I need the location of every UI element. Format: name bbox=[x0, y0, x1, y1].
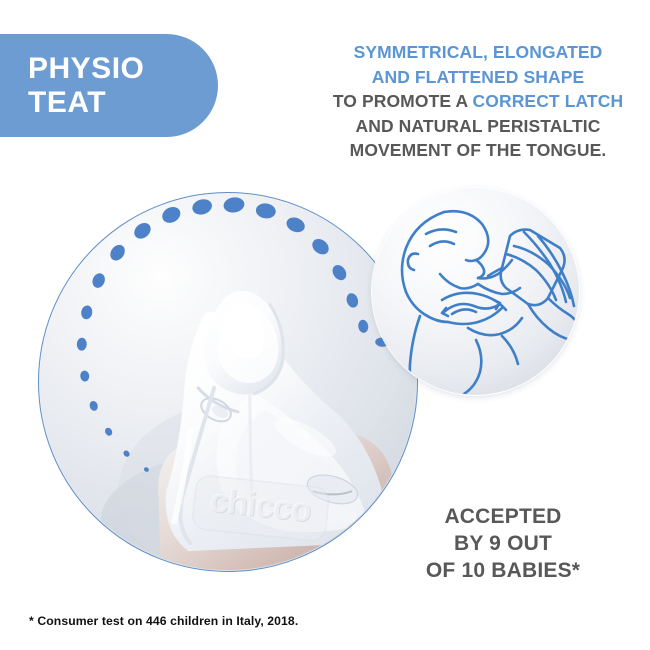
headline-line-4: AND NATURAL PERISTALTIC bbox=[318, 114, 638, 139]
claim-line-1: ACCEPTED bbox=[378, 503, 628, 530]
badge-line-2: TEAT bbox=[0, 86, 218, 120]
headline-line-1: SYMMETRICAL, ELONGATED bbox=[318, 40, 638, 65]
headline-line-5: MOVEMENT OF THE TONGUE. bbox=[318, 138, 638, 163]
claim-line-3: OF 10 BABIES* bbox=[378, 557, 628, 584]
badge-line-1: PHYSIO bbox=[0, 52, 218, 86]
headline-line-3: TO PROMOTE A CORRECT LATCH bbox=[318, 89, 638, 114]
acceptance-claim-block: ACCEPTED BY 9 OUT OF 10 BABIES* bbox=[378, 503, 628, 584]
physio-teat-badge: PHYSIO TEAT bbox=[0, 34, 218, 137]
headline-line-3-gray: TO PROMOTE A bbox=[333, 91, 473, 111]
product-feature-graphic: chicco chicco bbox=[0, 0, 650, 650]
footnote-disclaimer: * Consumer test on 446 children in Italy… bbox=[29, 614, 298, 628]
teat-photograph: chicco chicco bbox=[39, 193, 417, 571]
product-photo-circle: chicco chicco bbox=[38, 192, 418, 572]
claim-line-2: BY 9 OUT bbox=[378, 530, 628, 557]
headline-line-3-blue: CORRECT LATCH bbox=[473, 91, 624, 111]
baby-latch-illustration-circle bbox=[372, 188, 579, 395]
headline-line-2: AND FLATTENED SHAPE bbox=[318, 65, 638, 90]
baby-latch-line-art bbox=[372, 188, 579, 395]
headline-block: SYMMETRICAL, ELONGATED AND FLATTENED SHA… bbox=[318, 40, 638, 163]
